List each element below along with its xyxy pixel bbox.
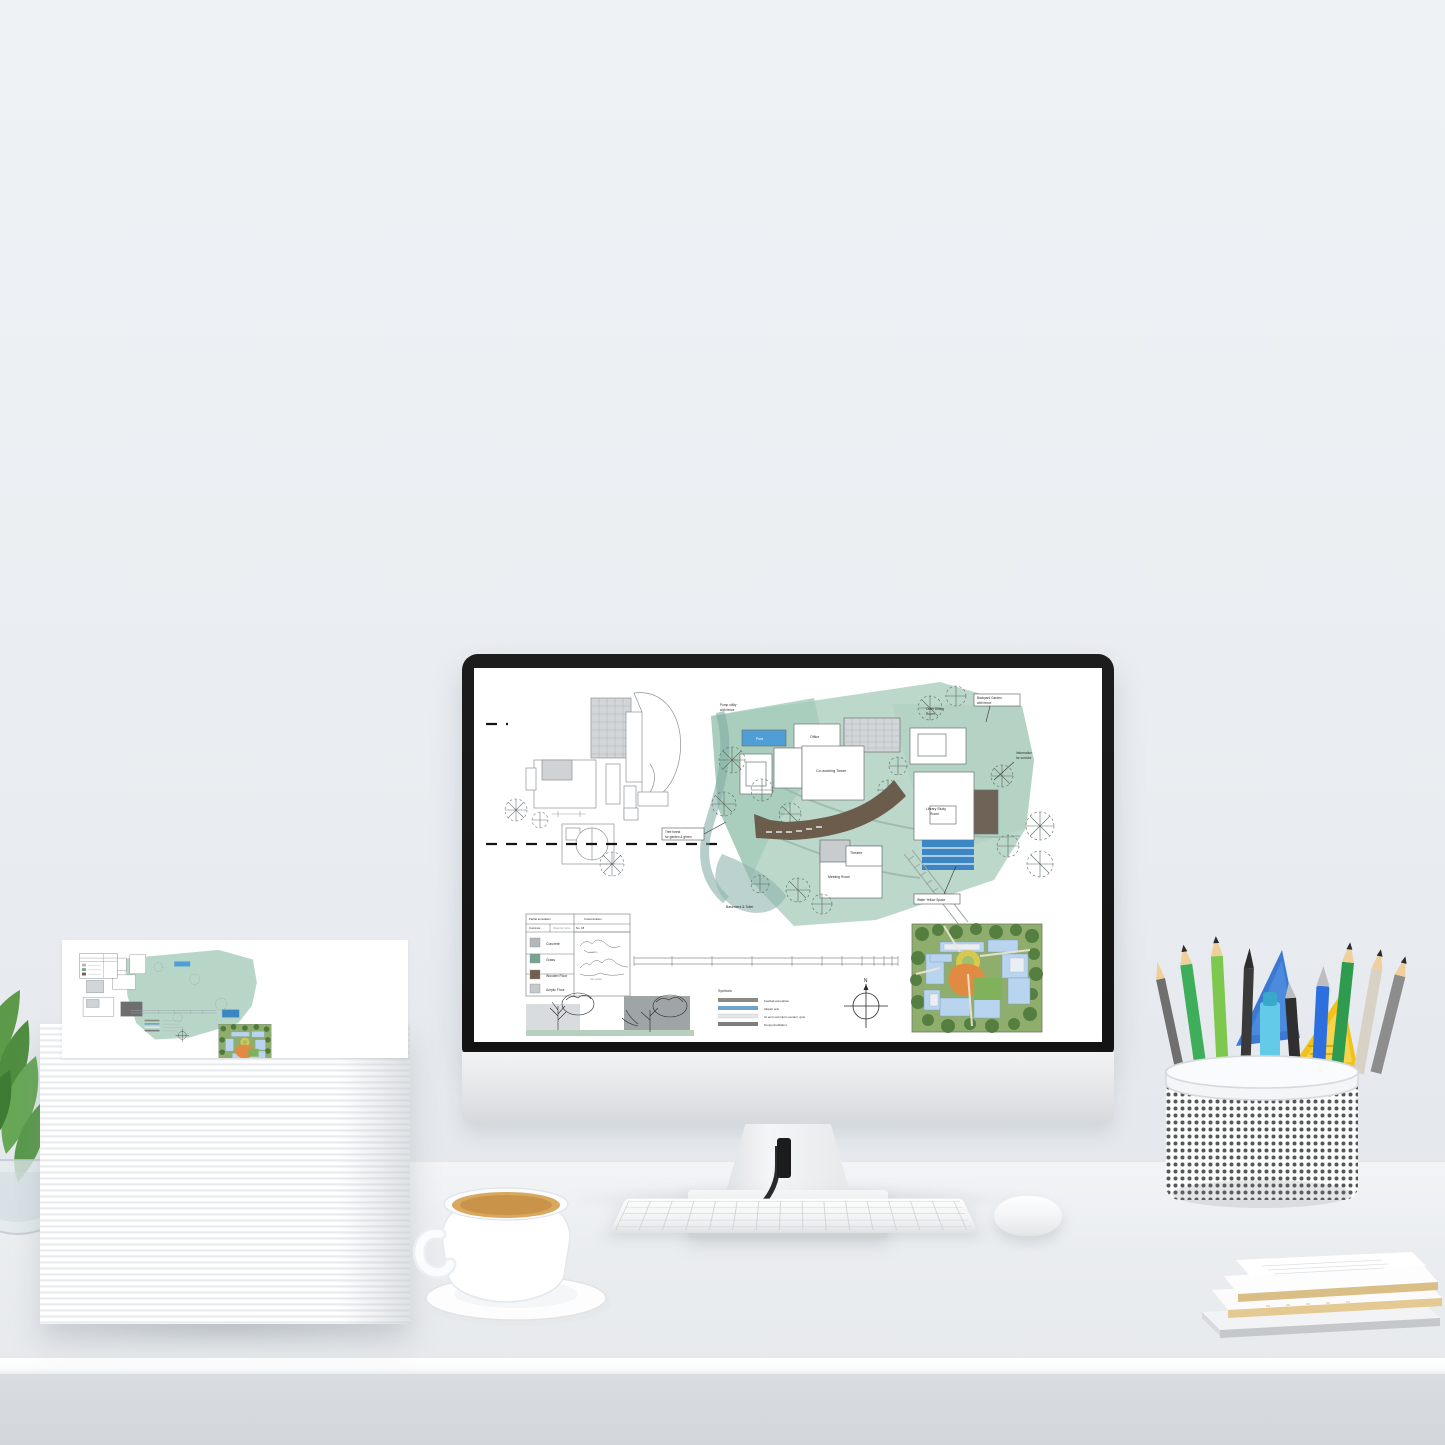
svg-text:section: section [590, 951, 598, 954]
svg-text:for garden & green: for garden & green [665, 835, 692, 839]
svg-text:Grass: Grass [546, 958, 555, 962]
pencil [1210, 936, 1229, 1074]
svg-text:Meeting Room: Meeting Room [828, 875, 850, 879]
pencil-cup-area [1130, 930, 1445, 1330]
svg-text:Festival annotation: Festival annotation [764, 999, 790, 1003]
svg-text:Library Study: Library Study [926, 807, 946, 811]
svg-text:Aliquip erat: Aliquip erat [764, 1007, 779, 1011]
monitor-bezel: Backyard Gardenwith fence Outer DiningRo… [462, 654, 1114, 1054]
monitor-chin [462, 1052, 1114, 1124]
svg-text:site section: site section [590, 978, 603, 981]
pencil [1152, 960, 1185, 1073]
desktop-monitor: Backyard Gardenwith fence Outer DiningRo… [462, 654, 1114, 1124]
svg-text:for corridor: for corridor [1016, 756, 1032, 760]
svg-text:Customization: Customization [584, 917, 602, 921]
svg-text:Outer Dining: Outer Dining [926, 707, 944, 711]
svg-text:Partial annotation: Partial annotation [529, 917, 551, 921]
svg-text:Room: Room [930, 812, 939, 816]
svg-text:Theatre: Theatre [850, 851, 862, 855]
svg-text:Backyard Garden: Backyard Garden [977, 696, 1002, 700]
svg-text:with fence: with fence [977, 701, 992, 705]
keyboard[interactable] [610, 1199, 979, 1233]
svg-text:Material name: Material name [553, 926, 571, 930]
monitor-plug [777, 1138, 791, 1178]
svg-text:with fence: with fence [720, 708, 735, 712]
svg-text:Concrete: Concrete [529, 926, 541, 930]
svg-text:Tree forest: Tree forest [665, 830, 680, 834]
svg-text:Pump utility: Pump utility [720, 703, 737, 707]
svg-text:Office: Office [810, 735, 819, 739]
pencil [1177, 944, 1207, 1074]
desk-front-panel [0, 1374, 1445, 1445]
monitor-screen[interactable]: Backyard Gardenwith fence Outer DiningRo… [474, 668, 1102, 1042]
site-plan-document: Backyard Gardenwith fence Outer DiningRo… [474, 668, 1102, 1042]
paper-stack-top-sheet [62, 940, 408, 1058]
svg-text:Concrete: Concrete [546, 942, 560, 946]
desk-edge [0, 1358, 1445, 1374]
svg-text:Ut enim ad minim veniam, quis: Ut enim ad minim veniam, quis [764, 1015, 806, 1019]
svg-text:Acrylic Floor: Acrylic Floor [546, 988, 566, 992]
promo-image: Higher Page Yield Than Expected! Consist… [0, 0, 1445, 1445]
svg-text:Pool: Pool [756, 737, 763, 741]
svg-text:No. 18: No. 18 [576, 926, 585, 930]
svg-text:Room: Room [926, 712, 935, 716]
svg-text:N: N [864, 978, 868, 984]
paper-stack-side [40, 1024, 410, 1324]
svg-text:Temporincididunt: Temporincididunt [764, 1023, 787, 1027]
svg-text:Wooden Floor: Wooden Floor [546, 974, 568, 978]
coffee-cup [404, 1172, 628, 1332]
svg-text:Information: Information [1016, 751, 1032, 755]
svg-text:Co-working Tower: Co-working Tower [816, 769, 847, 773]
keyboard-keys [615, 1201, 973, 1230]
svg-text:Water Yellow Space: Water Yellow Space [917, 898, 945, 902]
mouse[interactable] [994, 1196, 1062, 1236]
svg-text:Basement & Toilet: Basement & Toilet [726, 905, 753, 909]
svg-text:Symbols: Symbols [718, 989, 732, 993]
